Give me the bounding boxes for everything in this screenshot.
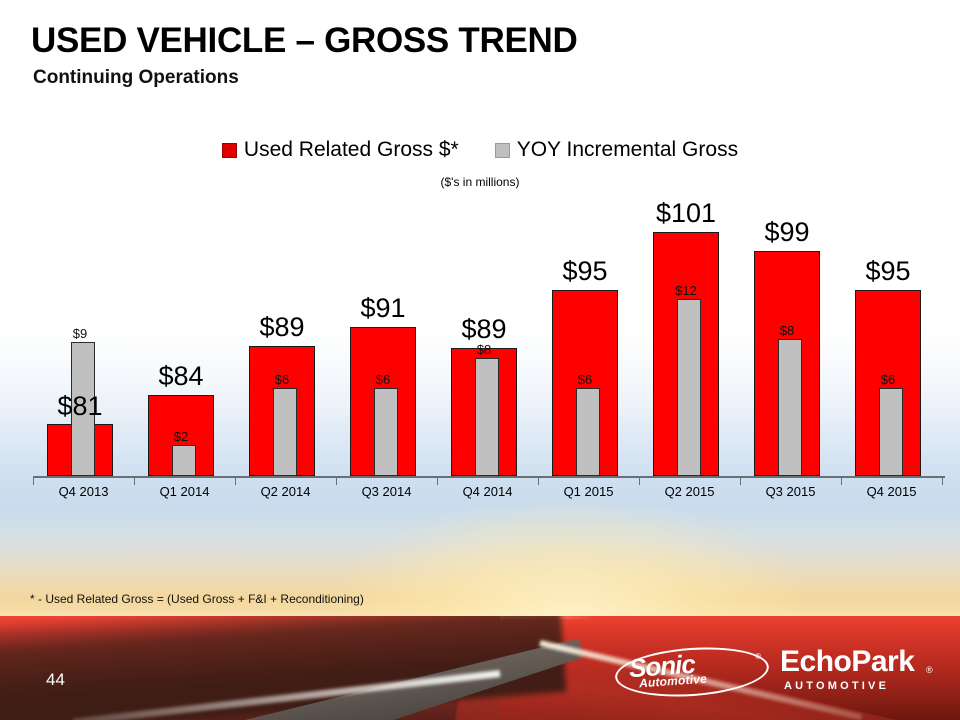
bar-group: $9$81 [33, 189, 134, 476]
x-axis-category-label: Q1 2014 [134, 484, 235, 499]
bar-yoy-incremental-gross[interactable] [576, 388, 600, 476]
bar-value-label-yoy: $6 [538, 372, 632, 387]
bar-value-label-used: $91 [336, 293, 430, 324]
x-axis-category-label: Q2 2014 [235, 484, 336, 499]
sonic-automotive-logo: Sonic Automotive ® [615, 646, 765, 694]
x-axis-tick [942, 478, 943, 485]
bar-value-label-used: $101 [639, 198, 733, 229]
bar-group: $2$84 [134, 189, 235, 476]
echopark-tagline: AUTOMOTIVE [784, 680, 889, 692]
x-axis-line [33, 476, 945, 478]
sonic-registered-mark: ® [755, 652, 761, 661]
bar-value-label-used: $89 [437, 314, 531, 345]
bar-yoy-incremental-gross[interactable] [172, 445, 196, 476]
x-axis-category-label: Q4 2013 [33, 484, 134, 499]
x-axis-category-label: Q3 2014 [336, 484, 437, 499]
bar-yoy-incremental-gross[interactable] [475, 358, 499, 476]
legend-item-yoy-incremental-gross[interactable]: YOY Incremental Gross [495, 138, 738, 162]
bar-value-label-yoy: $9 [33, 326, 127, 341]
bar-value-label-used: $95 [841, 256, 935, 287]
echopark-registered-mark: ® [926, 665, 933, 675]
bar-value-label-used: $99 [740, 217, 834, 248]
bar-group: $6$91 [336, 189, 437, 476]
bar-group: $6$95 [538, 189, 639, 476]
bar-value-label-yoy: $6 [336, 372, 430, 387]
gray-square-icon [495, 143, 510, 158]
bar-value-label-used: $89 [235, 312, 329, 343]
bar-value-label-yoy: $2 [134, 429, 228, 444]
slide-title: USED VEHICLE – GROSS TREND [31, 21, 577, 61]
x-axis-category-label: Q4 2015 [841, 484, 942, 499]
bar-value-label-yoy: $8 [740, 323, 834, 338]
bar-yoy-incremental-gross[interactable] [778, 339, 802, 476]
bar-group: $12$101 [639, 189, 740, 476]
slide-canvas: USED VEHICLE – GROSS TREND Continuing Op… [0, 0, 960, 720]
bar-yoy-incremental-gross[interactable] [879, 388, 903, 476]
bar-yoy-incremental-gross[interactable] [677, 299, 701, 476]
x-axis-category-label: Q3 2015 [740, 484, 841, 499]
bar-value-label-yoy: $6 [841, 372, 935, 387]
x-axis-category-label: Q2 2015 [639, 484, 740, 499]
bar-value-label-used: $84 [134, 361, 228, 392]
legend-item-used-related-gross[interactable]: Used Related Gross $* [222, 138, 459, 162]
legend-label-yoy-incremental-gross: YOY Incremental Gross [517, 138, 738, 162]
bar-value-label-yoy: $12 [639, 283, 733, 298]
bar-group: $6$89 [235, 189, 336, 476]
bar-group: $6$95 [841, 189, 942, 476]
units-note: ($'s in millions) [0, 175, 960, 189]
bar-group: $8$99 [740, 189, 841, 476]
background-sun-glow [320, 500, 800, 625]
bar-yoy-incremental-gross[interactable] [374, 388, 398, 476]
chart-legend: Used Related Gross $* YOY Incremental Gr… [0, 138, 960, 162]
page-number: 44 [46, 670, 65, 690]
slide-subtitle: Continuing Operations [33, 67, 239, 89]
x-axis-category-label: Q4 2014 [437, 484, 538, 499]
echopark-logo: EchoPark ® AUTOMOTIVE [780, 645, 950, 695]
bar-yoy-incremental-gross[interactable] [273, 388, 297, 476]
echopark-wordmark: EchoPark [780, 645, 914, 679]
bar-value-label-used: $81 [33, 391, 127, 422]
x-axis-category-label: Q1 2015 [538, 484, 639, 499]
red-square-icon [222, 143, 237, 158]
bar-group: $8$89 [437, 189, 538, 476]
footnote: * - Used Related Gross = (Used Gross + F… [30, 592, 364, 606]
legend-label-used-related-gross: Used Related Gross $* [244, 138, 459, 162]
bar-value-label-yoy: $6 [235, 372, 329, 387]
bar-value-label-used: $95 [538, 256, 632, 287]
